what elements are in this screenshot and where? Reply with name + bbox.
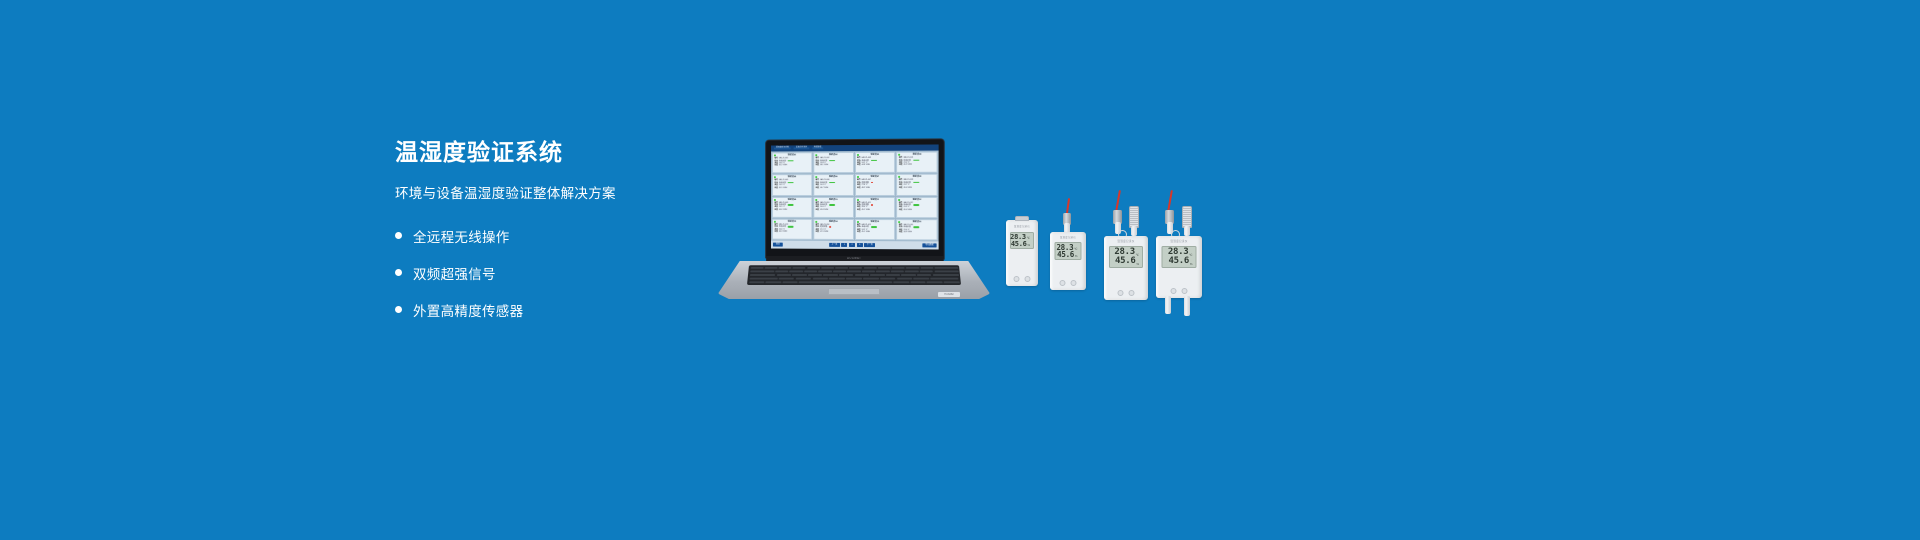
sensor-card[interactable]: 验证点15编号0A1-21-015状态在线正常温度24.2 ℃湿度45.1 %R… [854, 219, 895, 240]
sensor-card[interactable]: 验证点10编号0A1-21-010状态在线正常温度24.0 ℃湿度45.8 %R… [813, 197, 853, 218]
key-row [749, 277, 959, 280]
spacebar-key[interactable] [799, 281, 892, 284]
sensor-device[interactable]: 温湿度记录仪 28.3 ℃ 45.6 % [1006, 220, 1038, 286]
probe-cable [1167, 190, 1173, 212]
sensor-device-group: 温湿度记录仪 28.3 ℃ 45.6 % 温湿度记录 [1000, 190, 1240, 320]
key[interactable] [795, 277, 811, 280]
key[interactable] [870, 274, 884, 277]
status-dot-icon [856, 221, 858, 223]
list-item: 外置高精度传感器 [395, 297, 725, 322]
key[interactable] [789, 270, 802, 273]
humidity-reading-row: 45.6 % [1011, 241, 1030, 248]
hero-copy: 温湿度验证系统 环境与设备温湿度验证整体解决方案 全远程无线操作 双频超强信号 … [395, 140, 725, 334]
lcd-display: 28.3 ℃ 45.6 % [1109, 246, 1143, 268]
status-badge [829, 226, 831, 228]
status-dot-icon [815, 221, 817, 223]
sensor-card[interactable]: 验证点11编号0A1-21-011状态超限报警温度28.4 ℃湿度49.1 %R… [854, 196, 895, 217]
card-title: 验证点11 [857, 198, 893, 200]
card-row-hum: 湿度45.4 %RH [899, 209, 935, 211]
laptop-screen: 温湿度验证系统 设备实时监控 数据管理 验证点01编号0A1-21-001状态在… [771, 144, 939, 249]
bullet-dot-icon [395, 306, 402, 313]
list-item: 全远程无线操作 [395, 223, 725, 248]
key[interactable] [920, 270, 933, 273]
key[interactable] [808, 274, 823, 277]
tab-monitoring[interactable]: 温湿度验证系统 [774, 147, 791, 150]
card-title: 验证点14 [816, 221, 851, 223]
card-title: 验证点15 [857, 221, 893, 223]
key[interactable] [932, 274, 958, 277]
laptop-keyboard[interactable] [747, 265, 961, 285]
sensor-card[interactable]: 验证点04编号0A1-21-004状态在线正常温度23.4 ℃湿度45.9 %R… [896, 152, 937, 174]
sensor-device[interactable]: 温湿度记录仪 28.3 ℃ 45.6 % [1156, 236, 1202, 298]
key-row [750, 270, 959, 273]
key[interactable] [920, 267, 933, 270]
status-badge [788, 160, 794, 162]
device-brand-label: 温湿度记录仪 [1156, 239, 1202, 243]
key[interactable] [914, 277, 930, 280]
key[interactable] [906, 267, 919, 270]
app-footer-bar: 首页 上一页123下一页 导出数据 [771, 241, 939, 250]
sensor-card[interactable]: 验证点14编号0A1-21-014状态超限报警温度27.2 ℃湿度47.5 %R… [813, 219, 853, 240]
card-row-hum: 湿度45.8 %RH [816, 209, 851, 211]
key[interactable] [777, 274, 792, 277]
key[interactable] [793, 267, 806, 270]
status-badge [871, 204, 873, 206]
sensor-device-with-probe: 温湿度记录仪 28.3 ℃ 45.6 % [1104, 190, 1148, 300]
status-badge [788, 182, 794, 184]
key[interactable] [880, 277, 896, 280]
card-title: 验证点10 [816, 199, 851, 201]
device-button-group[interactable] [1118, 290, 1135, 296]
device-button-left[interactable] [1060, 280, 1066, 286]
page-button[interactable]: 上一页 [829, 243, 840, 247]
key[interactable] [812, 277, 828, 280]
feature-label: 外置高精度传感器 [413, 300, 523, 320]
key[interactable] [901, 274, 916, 277]
status-badge [829, 182, 835, 184]
device-button-right[interactable] [1182, 288, 1188, 294]
card-row-hum: 湿度49.1 %RH [857, 209, 893, 211]
humidity-reading-row: 45.6 % [1115, 257, 1139, 266]
sensor-device[interactable]: 温湿度记录仪 28.3 ℃ 45.6 % [1050, 232, 1086, 290]
key[interactable] [878, 267, 891, 270]
card-row-hum: 湿度44.9 %RH [899, 231, 935, 233]
feature-list: 全远程无线操作 双频超强信号 外置高精度传感器 [395, 223, 725, 322]
card-title: 验证点03 [857, 154, 893, 156]
mesh-probe-shaft [1131, 226, 1137, 236]
key[interactable] [778, 267, 791, 270]
status-badge [829, 160, 835, 162]
device-button-group[interactable] [1060, 280, 1077, 286]
humidity-reading-row: 45.6 % [1169, 257, 1193, 266]
key[interactable] [864, 267, 877, 270]
tab-data[interactable]: 数据管理 [812, 147, 823, 150]
key[interactable] [847, 270, 860, 273]
card-row-hum: 湿度45.5 %RH [774, 187, 809, 189]
card-title: 验证点13 [774, 221, 809, 223]
key[interactable] [944, 281, 960, 284]
home-button[interactable]: 首页 [773, 243, 783, 247]
status-badge [788, 226, 794, 228]
card-row-hum: 湿度44.8 %RH [857, 164, 893, 166]
card-row-hum: 湿度45.9 %RH [899, 164, 935, 166]
page-button[interactable]: 下一页 [864, 243, 875, 247]
key[interactable] [892, 267, 905, 270]
lcd-display: 28.3 ℃ 45.6 % [1162, 246, 1197, 268]
mesh-probe-shaft [1184, 226, 1190, 236]
status-badge [913, 204, 919, 206]
device-button-left[interactable] [1118, 290, 1124, 296]
card-title: 验证点09 [774, 199, 809, 201]
laptop-trackpad[interactable] [828, 288, 880, 295]
key[interactable] [846, 277, 862, 280]
banner-stage: 温湿度验证系统 环境与设备温湿度验证整体解决方案 全远程无线操作 双频超强信号 … [0, 0, 1920, 540]
card-title: 验证点12 [899, 198, 935, 200]
key[interactable] [807, 267, 820, 270]
sensor-card[interactable]: 验证点09编号0A1-21-009状态在线正常温度23.5 ℃湿度44.6 %R… [772, 197, 812, 218]
device-button-group[interactable] [1014, 276, 1031, 282]
device-button-right[interactable] [1071, 280, 1077, 286]
key[interactable] [855, 274, 869, 277]
key[interactable] [839, 274, 853, 277]
tab-realtime[interactable]: 设备实时监控 [794, 147, 809, 150]
lcd-display: 28.3 ℃ 45.6 % [1010, 232, 1034, 249]
card-row-hum: 湿度45.2 %RH [774, 165, 809, 167]
status-dot-icon [815, 199, 817, 201]
humidity-unit: % [1075, 255, 1078, 258]
key[interactable] [910, 281, 926, 284]
lcd-display: 28.3 ℃ 45.6 % [1055, 242, 1082, 260]
probe-cable [1115, 190, 1121, 212]
feature-label: 双频超强信号 [413, 263, 496, 283]
humidity-value: 45.6 [1011, 241, 1027, 248]
key[interactable] [893, 281, 909, 284]
status-badge [829, 204, 835, 206]
key[interactable] [829, 277, 845, 280]
device-button-group[interactable] [1171, 288, 1188, 294]
pagination: 上一页123下一页 [829, 243, 875, 247]
key[interactable] [775, 270, 788, 273]
card-row-hum: 湿度45.0 %RH [899, 187, 935, 189]
sensor-card[interactable]: 验证点03编号0A1-21-003状态在线正常温度24.1 ℃湿度44.8 %R… [854, 152, 895, 173]
key[interactable] [764, 267, 777, 270]
key[interactable] [927, 281, 943, 284]
mesh-sensor-probe [1182, 206, 1192, 228]
card-row-hum: 湿度46.3 %RH [774, 231, 809, 233]
key[interactable] [833, 270, 846, 273]
hanger-clip-icon [1015, 216, 1029, 221]
humidity-unit: % [1027, 244, 1030, 247]
sensor-card[interactable]: 验证点02编号0A1-21-002状态在线正常温度23.8 ℃湿度46.1 %R… [813, 152, 853, 173]
key[interactable] [934, 270, 958, 273]
humidity-unit: % [1136, 263, 1139, 266]
card-row-hum: 湿度44.6 %RH [774, 209, 809, 211]
key[interactable] [804, 270, 817, 273]
list-item: 双频超强信号 [395, 260, 725, 285]
card-row-hum: 湿度47.5 %RH [816, 231, 851, 233]
key-row [750, 267, 958, 270]
key[interactable] [934, 267, 958, 270]
page-button[interactable]: 2 [849, 243, 855, 247]
sensor-device-with-probe: 温湿度记录仪 28.3 ℃ 45.6 % [1156, 190, 1202, 318]
sensor-device-with-probe: 温湿度记录仪 28.3 ℃ 45.6 % [1050, 198, 1086, 290]
key[interactable] [917, 274, 932, 277]
bottom-probe-left [1165, 296, 1171, 314]
sensor-device[interactable]: 温湿度记录仪 28.3 ℃ 45.6 % [1104, 236, 1148, 300]
sensor-card[interactable]: 验证点05编号0A1-21-005状态在线正常温度23.9 ℃湿度45.5 %R… [772, 174, 812, 195]
status-dot-icon [856, 154, 858, 156]
status-dot-icon [774, 199, 776, 201]
page-button[interactable]: 1 [841, 243, 847, 247]
laptop-front-label: HUAWEI [938, 292, 960, 297]
key[interactable] [750, 270, 774, 273]
card-row-hum: 湿度45.1 %RH [857, 231, 893, 233]
sensor-card[interactable]: 验证点06编号0A1-21-006状态在线正常温度24.3 ℃湿度46.7 %R… [813, 174, 853, 195]
sensor-card[interactable]: 验证点07编号0A1-21-007状态超限报警温度27.8 ℃湿度48.2 %R… [854, 174, 895, 195]
key[interactable] [749, 281, 765, 284]
device-button-right[interactable] [1025, 276, 1031, 282]
key[interactable] [823, 274, 837, 277]
humidity-value: 45.6 [1115, 257, 1135, 266]
key[interactable] [765, 281, 781, 284]
bullet-dot-icon [395, 269, 402, 276]
key-row [749, 274, 958, 277]
humidity-reading-row: 45.6 % [1057, 251, 1077, 259]
status-badge [871, 159, 877, 161]
key[interactable] [778, 277, 794, 280]
status-dot-icon [856, 198, 858, 200]
laptop-base: HUAWEI [718, 261, 990, 299]
device-button-left[interactable] [1171, 288, 1177, 294]
status-badge [913, 226, 919, 228]
humidity-value: 45.6 [1169, 257, 1189, 266]
sensor-card[interactable]: 验证点13编号0A1-21-013状态在线正常温度23.8 ℃湿度46.3 %R… [772, 219, 812, 240]
key[interactable] [849, 267, 862, 270]
sensor-card-grid: 验证点01编号0A1-21-001状态在线正常温度23.6 ℃湿度45.2 %R… [771, 151, 939, 242]
status-badge [871, 182, 873, 184]
humidity-value: 45.6 [1057, 251, 1074, 259]
device-brand-label: 温湿度记录仪 [1050, 235, 1086, 239]
sensor-card[interactable]: 验证点12编号0A1-21-012状态在线正常温度23.3 ℃湿度45.4 %R… [896, 196, 937, 217]
device-brand-label: 温湿度记录仪 [1104, 239, 1148, 243]
laptop-illustration: 温湿度验证系统 设备实时监控 数据管理 验证点01编号0A1-21-001状态在… [718, 140, 990, 300]
card-row-hum: 湿度46.1 %RH [816, 164, 851, 166]
page-title: 温湿度验证系统 [395, 140, 725, 165]
probe-cable [1066, 198, 1070, 214]
bullet-dot-icon [395, 232, 402, 239]
card-row-hum: 湿度46.7 %RH [816, 187, 851, 189]
key[interactable] [749, 277, 777, 280]
device-brand-label: 温湿度记录仪 [1006, 224, 1038, 228]
sensor-card[interactable]: 验证点08编号0A1-21-008状态在线正常温度23.7 ℃湿度45.0 %R… [896, 174, 937, 195]
key[interactable] [891, 270, 904, 273]
device-button-left[interactable] [1014, 276, 1020, 282]
card-title: 验证点01 [774, 154, 809, 156]
key[interactable] [862, 270, 875, 273]
key[interactable] [886, 274, 901, 277]
key[interactable] [792, 274, 807, 277]
laptop-brand-label: HUAWEI [766, 257, 944, 260]
card-title: 验证点04 [899, 154, 935, 156]
device-button-right[interactable] [1129, 290, 1135, 296]
laptop-lid: 温湿度验证系统 设备实时监控 数据管理 验证点01编号0A1-21-001状态在… [766, 139, 944, 258]
card-title: 验证点02 [816, 154, 851, 156]
key[interactable] [818, 270, 831, 273]
sensor-card[interactable]: 验证点16编号0A1-21-016状态在线正常温度23.6 ℃湿度44.9 %R… [896, 219, 937, 241]
key[interactable] [835, 267, 848, 270]
key[interactable] [876, 270, 889, 273]
humidity-unit: % [1190, 263, 1193, 266]
page-button[interactable]: 3 [857, 243, 863, 247]
page-subtitle: 环境与设备温湿度验证整体解决方案 [395, 182, 725, 202]
feature-label: 全远程无线操作 [413, 226, 510, 246]
mesh-sensor-probe [1129, 206, 1139, 228]
key[interactable] [930, 277, 958, 280]
key[interactable] [750, 267, 763, 270]
status-badge [913, 182, 919, 184]
key[interactable] [749, 274, 775, 277]
key[interactable] [821, 267, 834, 270]
status-badge [913, 159, 919, 161]
key[interactable] [905, 270, 918, 273]
status-badge [788, 204, 794, 206]
key-row [749, 281, 960, 284]
key[interactable] [782, 281, 798, 284]
export-button[interactable]: 导出数据 [922, 243, 936, 247]
sensor-card[interactable]: 验证点01编号0A1-21-001状态在线正常温度23.6 ℃湿度45.2 %R… [772, 152, 812, 173]
key[interactable] [897, 277, 913, 280]
bottom-probe-right [1184, 296, 1190, 316]
key[interactable] [863, 277, 879, 280]
card-title: 验证点16 [899, 221, 935, 223]
status-badge [871, 226, 877, 228]
card-row-hum: 湿度48.2 %RH [857, 187, 893, 189]
